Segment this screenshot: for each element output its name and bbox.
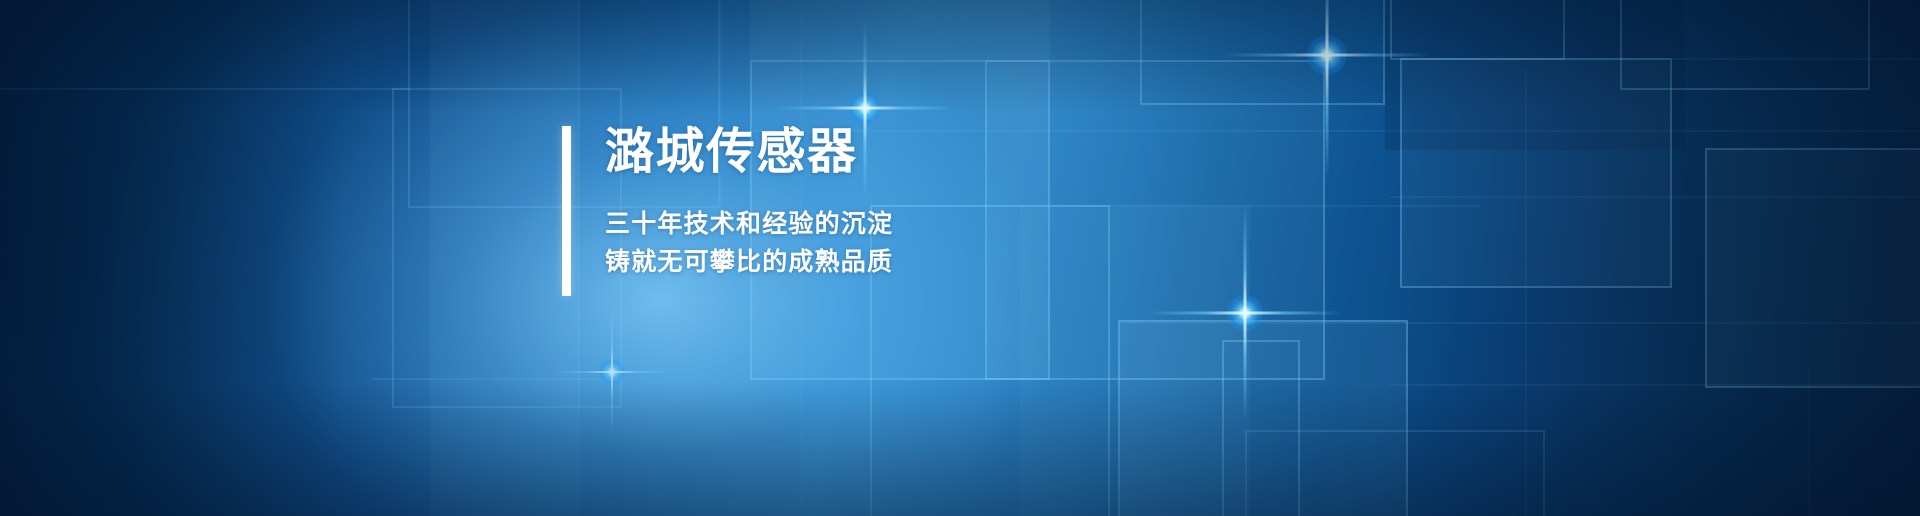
- banner-subline-1: 三十年技术和经验的沉淀: [605, 210, 893, 239]
- vertical-accent-bar: [562, 126, 571, 296]
- banner-copy: 潞城传感器 三十年技术和经验的沉淀 铸就无可攀比的成熟品质: [605, 126, 893, 296]
- banner-text-block: 潞城传感器 三十年技术和经验的沉淀 铸就无可攀比的成熟品质: [562, 126, 893, 296]
- hero-banner: 潞城传感器 三十年技术和经验的沉淀 铸就无可攀比的成熟品质: [0, 0, 1920, 516]
- background-vignette: [0, 0, 1920, 516]
- banner-sublines: 三十年技术和经验的沉淀 铸就无可攀比的成熟品质: [605, 210, 893, 277]
- banner-headline: 潞城传感器: [605, 128, 893, 177]
- banner-subline-2: 铸就无可攀比的成熟品质: [605, 248, 893, 277]
